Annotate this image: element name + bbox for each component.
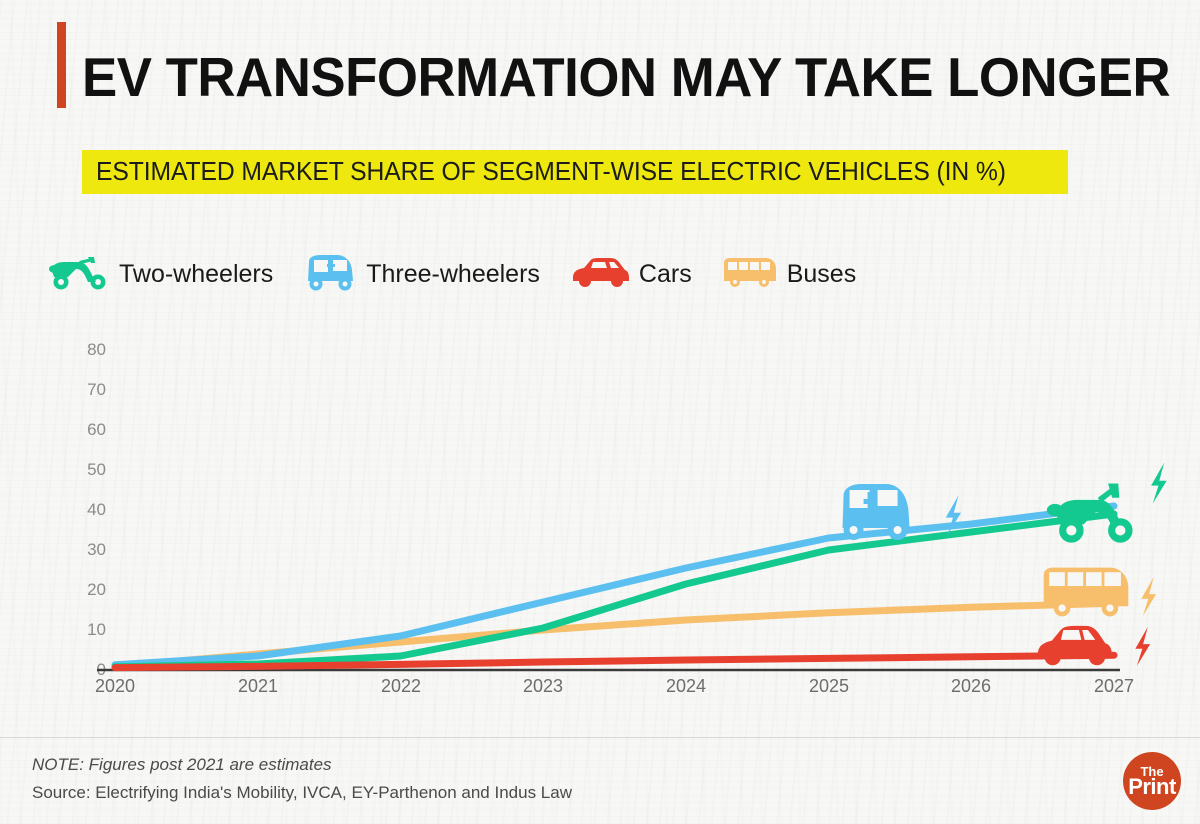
footer-note: NOTE: Figures post 2021 are estimates [32,755,332,775]
scooter-icon [1047,484,1133,543]
lightning-bolt-icon [1141,577,1156,616]
footer-source: Source: Electrifying India's Mobility, I… [32,783,572,803]
bus-icon [1044,568,1129,617]
lightning-bolt-icon [1135,627,1150,666]
car-icon [1038,626,1112,665]
lightning-bolt-icon [1151,463,1167,504]
footer-divider [0,737,1200,738]
series-line-two-wheelers [115,514,1114,667]
line-chart-plot [0,0,1200,824]
theprint-logo: The Print [1123,752,1181,810]
logo-line-print: Print [1128,776,1176,798]
